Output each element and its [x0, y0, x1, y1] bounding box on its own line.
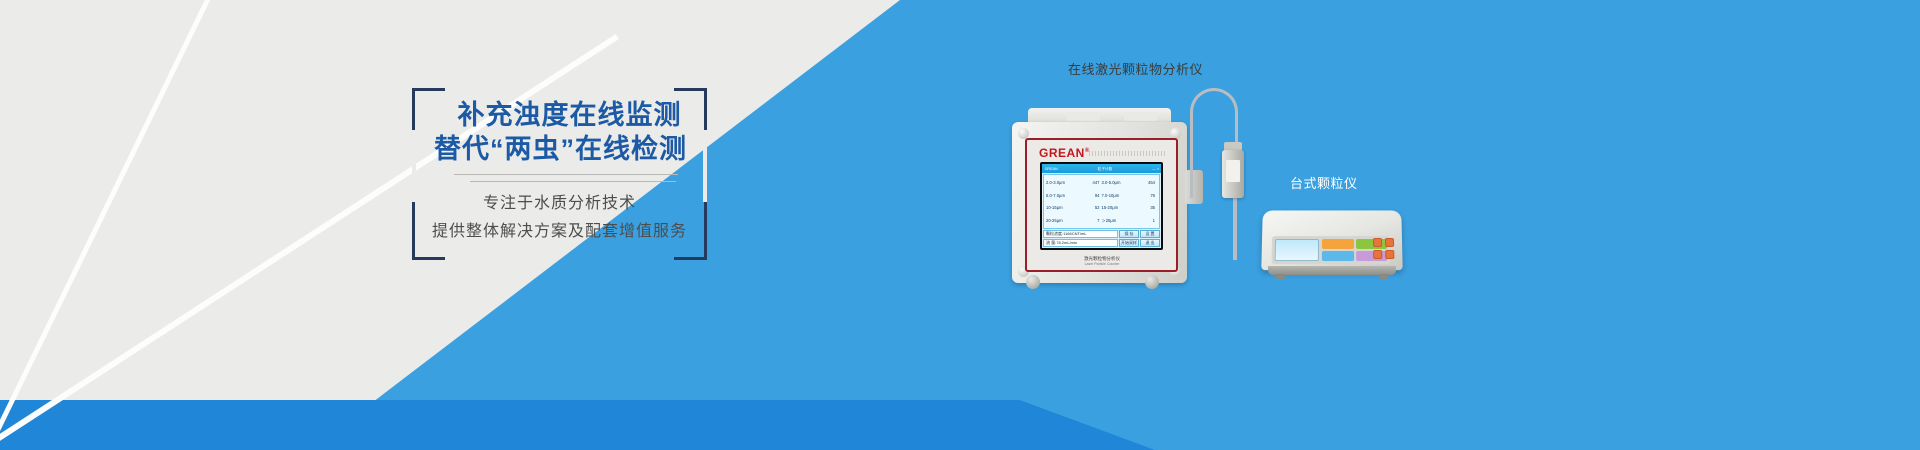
- display-title-left: GREAN: [1045, 166, 1058, 171]
- desktop-key[interactable]: [1322, 251, 1354, 261]
- brand-logo-text: GREAN: [1039, 146, 1085, 160]
- analyzer-model-caption: 激光颗粒物分析仪 Laser Particle Counter: [1067, 256, 1137, 266]
- table-row: 2.0-3.0μm 447 3.0-5.0μm 454: [1046, 180, 1157, 185]
- display-controls: 颗粒浓度:1166CNT/mL 保 存 设 置 流 量:78.2mL/min 开…: [1043, 230, 1160, 247]
- table-row: 10-15μm 52 15-20μm 35: [1046, 205, 1157, 210]
- label-desktop-counter: 台式颗粒仪: [1290, 173, 1358, 192]
- inline-sensor: [1222, 150, 1244, 198]
- size-range-label: 15-20μm: [1102, 205, 1133, 210]
- start-sampling-button[interactable]: 开始采样: [1119, 239, 1139, 247]
- analyzer-display-bezel: GREAN 粒子计数 — × 2.0-3.0μm 447 3.0-5.0μm 4…: [1040, 162, 1163, 250]
- settings-button[interactable]: 设 置: [1140, 230, 1160, 238]
- analyzer-front-panel: GREAN® GREAN 粒子计数 — × 2.0-3.0μm: [1025, 138, 1178, 272]
- headline-line-1: 补充浊度在线监测: [412, 98, 707, 132]
- desktop-key[interactable]: [1322, 239, 1354, 249]
- display-control-row: 颗粒浓度:1166CNT/mL 保 存 设 置: [1043, 230, 1160, 238]
- desktop-round-button[interactable]: [1385, 250, 1394, 259]
- table-row: 5.0-7.0μm 94 7.0-10μm 76: [1046, 193, 1157, 198]
- online-laser-particle-analyzer: GREAN® GREAN 粒子计数 — × 2.0-3.0μm: [1012, 108, 1187, 283]
- headline-block: 补充浊度在线监测 替代“两虫”在线检测 专注于水质分析技术 提供整体解决方案及配…: [412, 88, 707, 254]
- analyzer-display[interactable]: GREAN 粒子计数 — × 2.0-3.0μm 447 3.0-5.0μm 4…: [1042, 164, 1161, 248]
- count-value: 1: [1132, 218, 1157, 223]
- desktop-round-button[interactable]: [1373, 238, 1382, 247]
- cable-gland-icon: [1145, 275, 1159, 289]
- display-title-bar: GREAN 粒子计数 — ×: [1042, 164, 1161, 173]
- divider-upper: [454, 174, 678, 175]
- concentration-readout: 颗粒浓度:1166CNT/mL: [1043, 230, 1118, 238]
- desktop-body: [1261, 210, 1402, 270]
- count-value: 94: [1077, 193, 1102, 198]
- count-value: 76: [1132, 193, 1157, 198]
- desktop-base: [1268, 266, 1396, 275]
- subtitle-line-2: 提供整体解决方案及配套增值服务: [412, 218, 707, 246]
- display-window-controls[interactable]: — ×: [1152, 166, 1159, 171]
- analyzer-lid-notch-2: [1124, 112, 1158, 121]
- count-value: 7: [1077, 218, 1102, 223]
- subtitle-text: 专注于水质分析技术 提供整体解决方案及配套增值服务: [412, 190, 707, 246]
- size-range-label: 3.0-5.0μm: [1102, 180, 1133, 185]
- analyzer-lid-notch-1: [1066, 112, 1100, 121]
- sensor-label: [1226, 160, 1240, 182]
- save-button[interactable]: 保 存: [1119, 230, 1139, 238]
- desktop-round-button[interactable]: [1385, 238, 1394, 247]
- size-range-label: 2.0-3.0μm: [1046, 180, 1077, 185]
- count-value: 454: [1132, 180, 1157, 185]
- cable-gland-icon: [1026, 275, 1040, 289]
- count-value: 35: [1132, 205, 1157, 210]
- divider-group: [412, 174, 707, 182]
- divider-lower: [470, 181, 676, 182]
- particle-count-table: 2.0-3.0μm 447 3.0-5.0μm 454 5.0-7.0μm 94…: [1043, 174, 1160, 229]
- flow-rate-readout: 流 量:78.2mL/min: [1043, 239, 1118, 247]
- display-title-center: 粒子计数: [1098, 166, 1113, 172]
- promo-banner: 补充浊度在线监测 替代“两虫”在线检测 专注于水质分析技术 提供整体解决方案及配…: [0, 0, 1920, 450]
- size-range-label: 20-25μm: [1046, 218, 1077, 223]
- headline-line-2: 替代“两虫”在线检测: [412, 132, 707, 166]
- exit-button[interactable]: 退 出: [1140, 239, 1160, 247]
- desktop-round-button[interactable]: [1373, 250, 1382, 259]
- headline-text: 补充浊度在线监测 替代“两虫”在线检测: [412, 98, 707, 166]
- subtitle-line-1: 专注于水质分析技术: [412, 190, 707, 218]
- count-value: 447: [1077, 180, 1102, 185]
- desktop-foot: [1379, 274, 1388, 279]
- analyzer-enclosure: GREAN® GREAN 粒子计数 — × 2.0-3.0μm: [1012, 122, 1187, 283]
- label-online-analyzer: 在线激光颗粒物分析仪: [1068, 59, 1203, 78]
- size-range-label: 5.0-7.0μm: [1046, 193, 1077, 198]
- size-range-label: 10-15μm: [1046, 205, 1077, 210]
- model-name-en: Laser Particle Counter: [1067, 262, 1137, 266]
- size-range-label: 7.0-10μm: [1102, 193, 1133, 198]
- display-control-row: 流 量:78.2mL/min 开始采样 退 出: [1043, 239, 1160, 247]
- table-row: 20-25μm 7 ＞25μm 1: [1046, 218, 1157, 223]
- size-range-label: ＞25μm: [1102, 218, 1133, 223]
- desktop-display[interactable]: [1275, 239, 1319, 261]
- desktop-particle-counter: [1262, 210, 1402, 290]
- desktop-foot: [1276, 274, 1285, 279]
- count-value: 52: [1077, 205, 1102, 210]
- vent-grille: [1089, 151, 1167, 156]
- desktop-button-cluster: [1373, 238, 1394, 259]
- brand-logo: GREAN®: [1039, 146, 1090, 160]
